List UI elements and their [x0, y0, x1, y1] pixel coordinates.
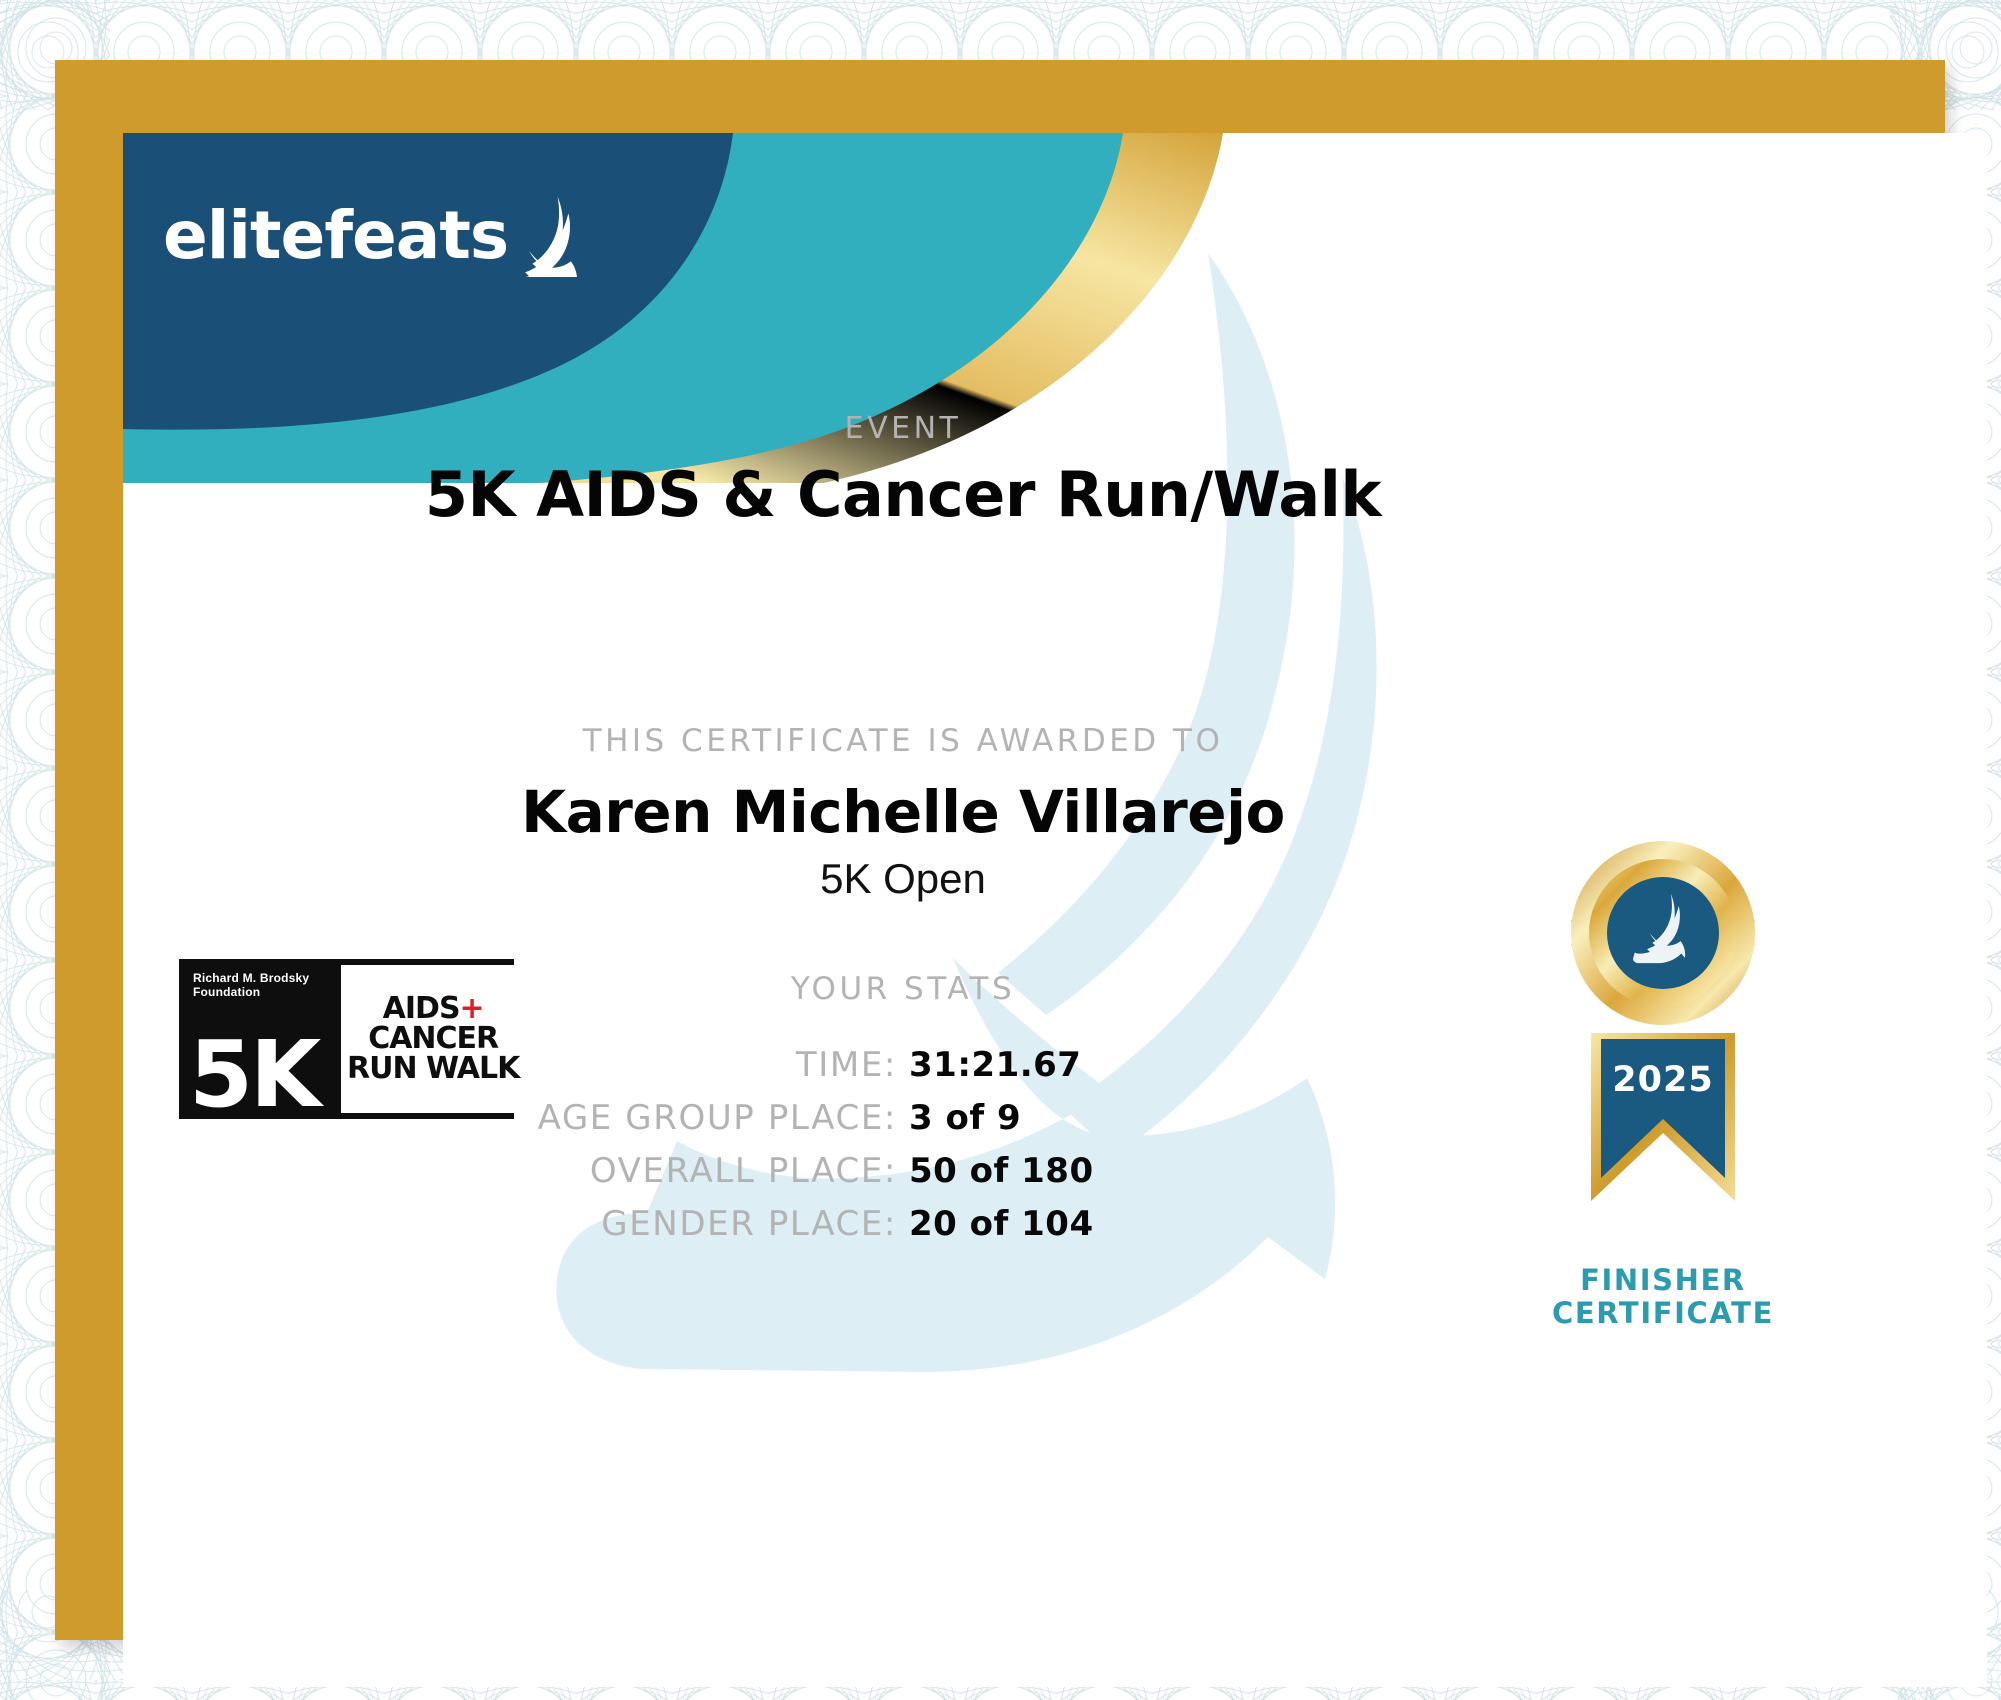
stat-row-gender-place: GENDER PLACE: 20 of 104 [123, 1204, 1683, 1244]
sponsor-logo-left: Richard M. Brodsky Foundation 5K [185, 965, 333, 1113]
finisher-badge: 2025 [1513, 833, 1813, 1330]
event-sponsor-logo: Richard M. Brodsky Foundation 5K AIDS+ C… [179, 959, 514, 1119]
brand-wordmark: elitefeats [163, 203, 508, 269]
certificate-page: elitefeats EVENT 5K AIDS & Cancer Run/Wa… [0, 0, 2001, 1700]
stat-value-overall-place: 50 of 180 [897, 1151, 1389, 1191]
sponsor-foundation-name: Richard M. Brodsky Foundation [193, 965, 333, 999]
division-name: 5K Open [123, 855, 1683, 903]
event-title: 5K AIDS & Cancer Run/Walk [123, 458, 1683, 531]
sponsor-foundation-line2: Foundation [193, 985, 333, 999]
award-ribbon-icon: 2025 [1513, 833, 1813, 1253]
certificate-body: elitefeats EVENT 5K AIDS & Cancer Run/Wa… [123, 133, 1987, 1687]
sponsor-foundation-line1: Richard M. Brodsky [193, 971, 333, 985]
awarded-to-label: THIS CERTIFICATE IS AWARDED TO [123, 723, 1683, 759]
badge-caption-line2: CERTIFICATE [1513, 1297, 1813, 1330]
certificate-gold-frame: elitefeats EVENT 5K AIDS & Cancer Run/Wa… [55, 60, 1945, 1640]
badge-year-text: 2025 [1612, 1060, 1713, 1100]
stat-label-gender-place: GENDER PLACE: [417, 1204, 897, 1244]
event-section-label: EVENT [123, 411, 1683, 446]
stat-value-time: 31:21.67 [897, 1045, 1389, 1085]
sponsor-line-aids: AIDS+ [383, 994, 484, 1024]
recipient-name: Karen Michelle Villarejo [123, 778, 1683, 846]
winged-foot-icon [506, 193, 578, 277]
stat-row-overall-place: OVERALL PLACE: 50 of 180 [123, 1151, 1683, 1191]
sponsor-distance-5k: 5K [189, 1029, 318, 1121]
sponsor-line-cancer: CANCER [368, 1024, 498, 1054]
stat-label-overall-place: OVERALL PLACE: [417, 1151, 897, 1191]
elitefeats-logo: elitefeats [163, 193, 578, 269]
sponsor-logo-right: AIDS+ CANCER RUN WALK [341, 965, 525, 1113]
stat-value-age-group-place: 3 of 9 [897, 1098, 1389, 1138]
stat-value-gender-place: 20 of 104 [897, 1204, 1389, 1244]
badge-caption: FINISHER CERTIFICATE [1513, 1264, 1813, 1330]
badge-caption-line1: FINISHER [1513, 1264, 1813, 1297]
sponsor-line-run-walk: RUN WALK [347, 1054, 519, 1084]
